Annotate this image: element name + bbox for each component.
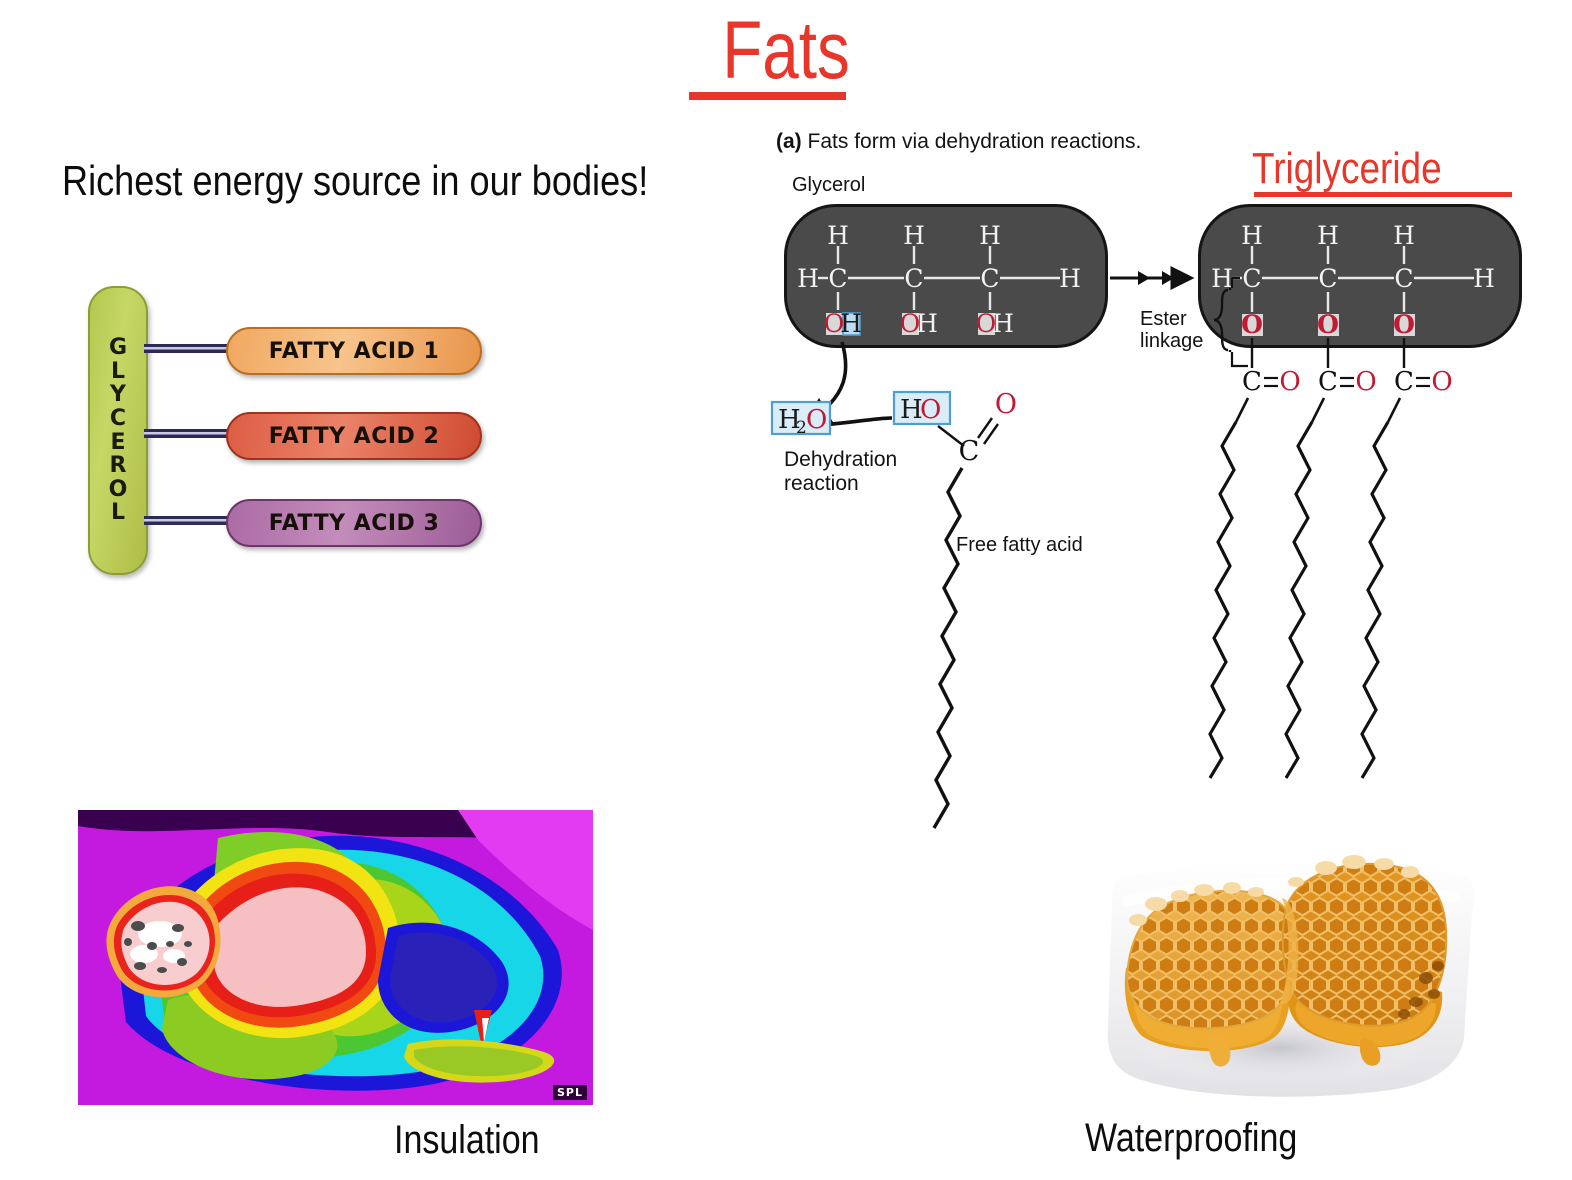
reaction-arrow [1110, 271, 1190, 285]
headline-text: Richest energy source in our bodies! [62, 160, 648, 202]
fatty-acid-1-pill: FATTY ACID 1 [226, 327, 482, 375]
triglyceride-lower-bonds [1252, 338, 1404, 368]
carbonyl-o-1: O [1279, 367, 1300, 397]
triglyceride-tail-2 [1286, 422, 1312, 778]
photo-watermark: SPL [553, 1085, 587, 1100]
triglyceride-bonds [1232, 246, 1474, 312]
carbonyl-groups: C O C O C O [1242, 367, 1453, 397]
glycerol-bonds [818, 246, 1060, 310]
ester-oxygen-2: O [1317, 310, 1339, 339]
free-fatty-acid-chain [934, 468, 962, 828]
free-fatty-acid-label: Free fatty acid [956, 534, 1083, 557]
svg-text:H: H [840, 309, 862, 338]
page-title-underline [689, 92, 846, 100]
dehydration-reaction-label: Dehydration reaction [784, 448, 897, 496]
glycerol-c-3: C [980, 264, 999, 293]
carbonyl-c-3: C [1394, 367, 1414, 397]
tri-h-top-2: H [1317, 221, 1339, 250]
svg-text:O: O [1393, 310, 1415, 339]
glycerol-letter-r: R [110, 454, 127, 478]
glycerol-letter-y: Y [110, 383, 126, 407]
glycerol-h-top-3: H [979, 221, 1001, 250]
dehydration-line-1: Dehydration [784, 448, 897, 472]
glycerol-c-2: C [904, 264, 923, 293]
ester-oxygen-3: O [1393, 310, 1415, 339]
glycerol-h-top-1: H [827, 221, 849, 250]
ester-bond-connector-3 [144, 516, 228, 525]
fatty-acid-2-pill: FATTY ACID 2 [226, 412, 482, 460]
water-molecule: H 2 O [772, 402, 830, 438]
svg-text:O: O [806, 405, 827, 435]
glycerol-c-1: C [828, 264, 847, 293]
glycerol-bar: G L Y C E R O L [88, 286, 148, 575]
tri-c-2: C [1318, 264, 1337, 293]
triglyceride-tail-1 [1210, 422, 1236, 778]
ester-linkage-line-2: linkage [1140, 330, 1203, 352]
ester-oxygen-1: O [1241, 310, 1263, 339]
glycerol-letter-e: E [110, 431, 125, 455]
glycerol-letter-c: C [110, 407, 126, 431]
honeycomb-graphic [1090, 838, 1490, 1116]
carbonyl-o-2: O [1355, 367, 1376, 397]
tri-c-3: C [1394, 264, 1413, 293]
page-title: Fats [157, 10, 1415, 92]
ester-linkage-label: Ester linkage [1140, 308, 1203, 353]
glycerol-letter-o: O [109, 478, 128, 502]
glycerol-hydroxyl-1: O H [824, 309, 862, 338]
svg-text:O: O [1317, 310, 1339, 339]
ester-bond-connector-1 [144, 344, 228, 353]
carbonyl-c-1: C [1242, 367, 1262, 397]
fatty-acid-3-pill: FATTY ACID 3 [226, 499, 482, 547]
carbonyl-o-3: O [1431, 367, 1452, 397]
ester-linkage-brace [1214, 290, 1228, 350]
glycerol-h-top-2: H [903, 221, 925, 250]
insulation-caption: Insulation [394, 1120, 540, 1160]
svg-text:O: O [1241, 310, 1263, 339]
svg-text:H: H [916, 309, 938, 338]
glycerol-h-right: H [1059, 264, 1081, 293]
tri-c-1: C [1242, 264, 1261, 293]
triglyceride-tail-3 [1362, 422, 1388, 778]
honeycomb-photo [1090, 838, 1490, 1116]
svg-text:O: O [920, 395, 941, 425]
thermal-image-graphic [78, 810, 593, 1105]
thermal-infrared-baby-photo: SPL [78, 810, 593, 1105]
carbonyl-to-chain-bonds [1236, 398, 1400, 422]
glycerol-letter-l1: L [111, 360, 125, 384]
tri-h-top-3: H [1393, 221, 1415, 250]
glycerol-fatty-acid-schematic: G L Y C E R O L FATTY ACID 1 FATTY ACID … [88, 278, 478, 578]
triglyceride-atoms: H H H H C C C H [1211, 221, 1495, 293]
free-fatty-acid-carbonyl-o: O [995, 389, 1017, 420]
glycerol-hydroxyl-2: O H [900, 309, 938, 338]
free-fatty-acid-carbonyl-c: C [959, 436, 980, 467]
svg-text:H: H [992, 309, 1014, 338]
glycerol-atoms: H H H H C C C H [797, 221, 1081, 293]
ester-bond-connector-2 [144, 429, 228, 438]
dehydration-line-2: reaction [784, 472, 897, 496]
dehydration-reaction-figure: (a) Fats form via dehydration reactions.… [770, 130, 1540, 830]
tri-h-right: H [1473, 264, 1495, 293]
glycerol-hydroxyl-3: O H [976, 309, 1014, 338]
ester-linkage-line-1: Ester [1140, 308, 1203, 330]
fatty-acid-hydroxyl: H O [894, 392, 950, 425]
waterproofing-caption: Waterproofing [1085, 1118, 1297, 1158]
tri-h-top-1: H [1241, 221, 1263, 250]
glycerol-h-left: H [797, 264, 819, 293]
glycerol-letter-g: G [109, 336, 127, 360]
glycerol-letter-l2: L [111, 501, 125, 525]
carbonyl-c-2: C [1318, 367, 1338, 397]
